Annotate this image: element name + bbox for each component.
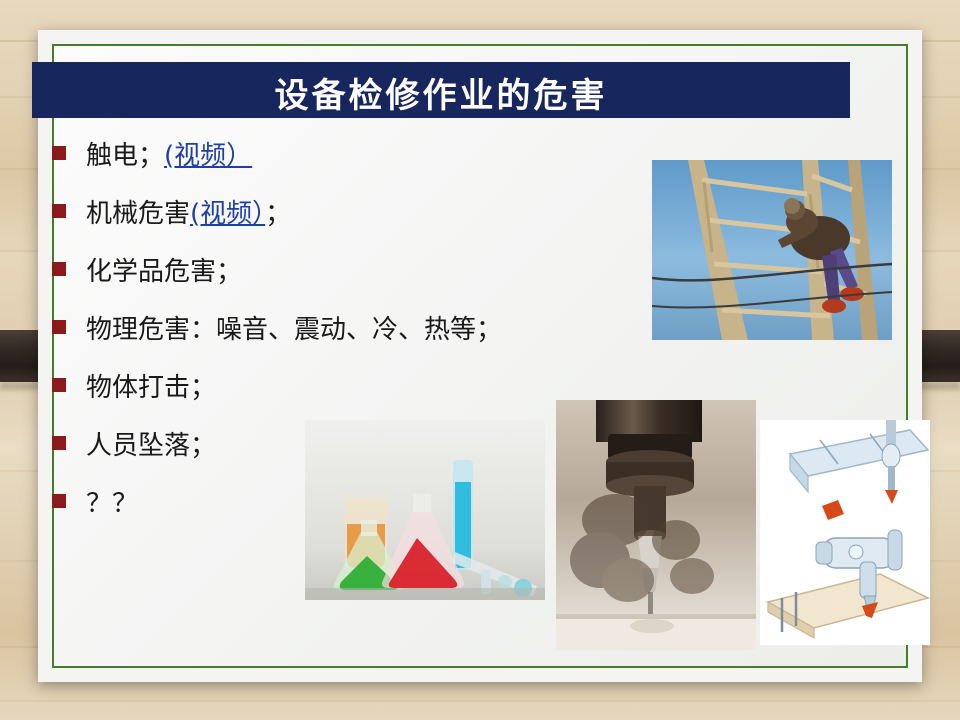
list-item-label: 物理危害：噪音、震动、冷、热等； (86, 309, 502, 346)
list-item: 机械危害(视频）； (52, 193, 652, 229)
worker-on-tower-illustration (652, 160, 892, 340)
square-bullet-icon (52, 436, 66, 450)
square-bullet-icon (52, 262, 66, 276)
list-item-label: 机械危害(视频）； (86, 193, 291, 230)
nail-gun-illustration (760, 420, 930, 645)
list-item-label: 人员坠落； (86, 425, 216, 462)
list-item-label: 化学品危害； (86, 251, 242, 288)
drilling-machine-illustration (556, 400, 756, 650)
list-item-text: 触电； (86, 141, 164, 171)
video-link[interactable]: (视频） (164, 141, 252, 171)
square-bullet-icon (52, 494, 66, 508)
list-item-suffix: ； (265, 199, 291, 229)
video-link[interactable]: (视频） (190, 199, 265, 229)
slide-canvas: 设备检修作业的危害 触电；(视频） 机械危害(视频）； 化学品危害； 物理危害：… (0, 0, 960, 720)
page-title: 设备检修作业的危害 (32, 68, 850, 117)
square-bullet-icon (52, 378, 66, 392)
square-bullet-icon (52, 204, 66, 218)
list-item-text: 机械危害 (86, 199, 190, 229)
list-item: 化学品危害； (52, 251, 652, 287)
list-item-label: 物体打击； (86, 367, 216, 404)
list-item: 触电；(视频） (52, 135, 652, 171)
list-item: 物体打击； (52, 367, 652, 403)
nail-gun-diagram (760, 420, 930, 645)
square-bullet-icon (52, 320, 66, 334)
list-item-label: ？？ (86, 483, 138, 520)
worker-on-tower-photo (652, 160, 892, 340)
laboratory-glassware-photo (305, 420, 545, 600)
slide-title-bar: 设备检修作业的危害 (32, 62, 850, 118)
list-item-label: 触电；(视频） (86, 135, 252, 172)
drilling-machine-photo (556, 400, 756, 650)
square-bullet-icon (52, 146, 66, 160)
list-item: 物理危害：噪音、震动、冷、热等； (52, 309, 652, 345)
laboratory-glassware-illustration (305, 420, 545, 600)
wood-grain-line (0, 700, 960, 702)
